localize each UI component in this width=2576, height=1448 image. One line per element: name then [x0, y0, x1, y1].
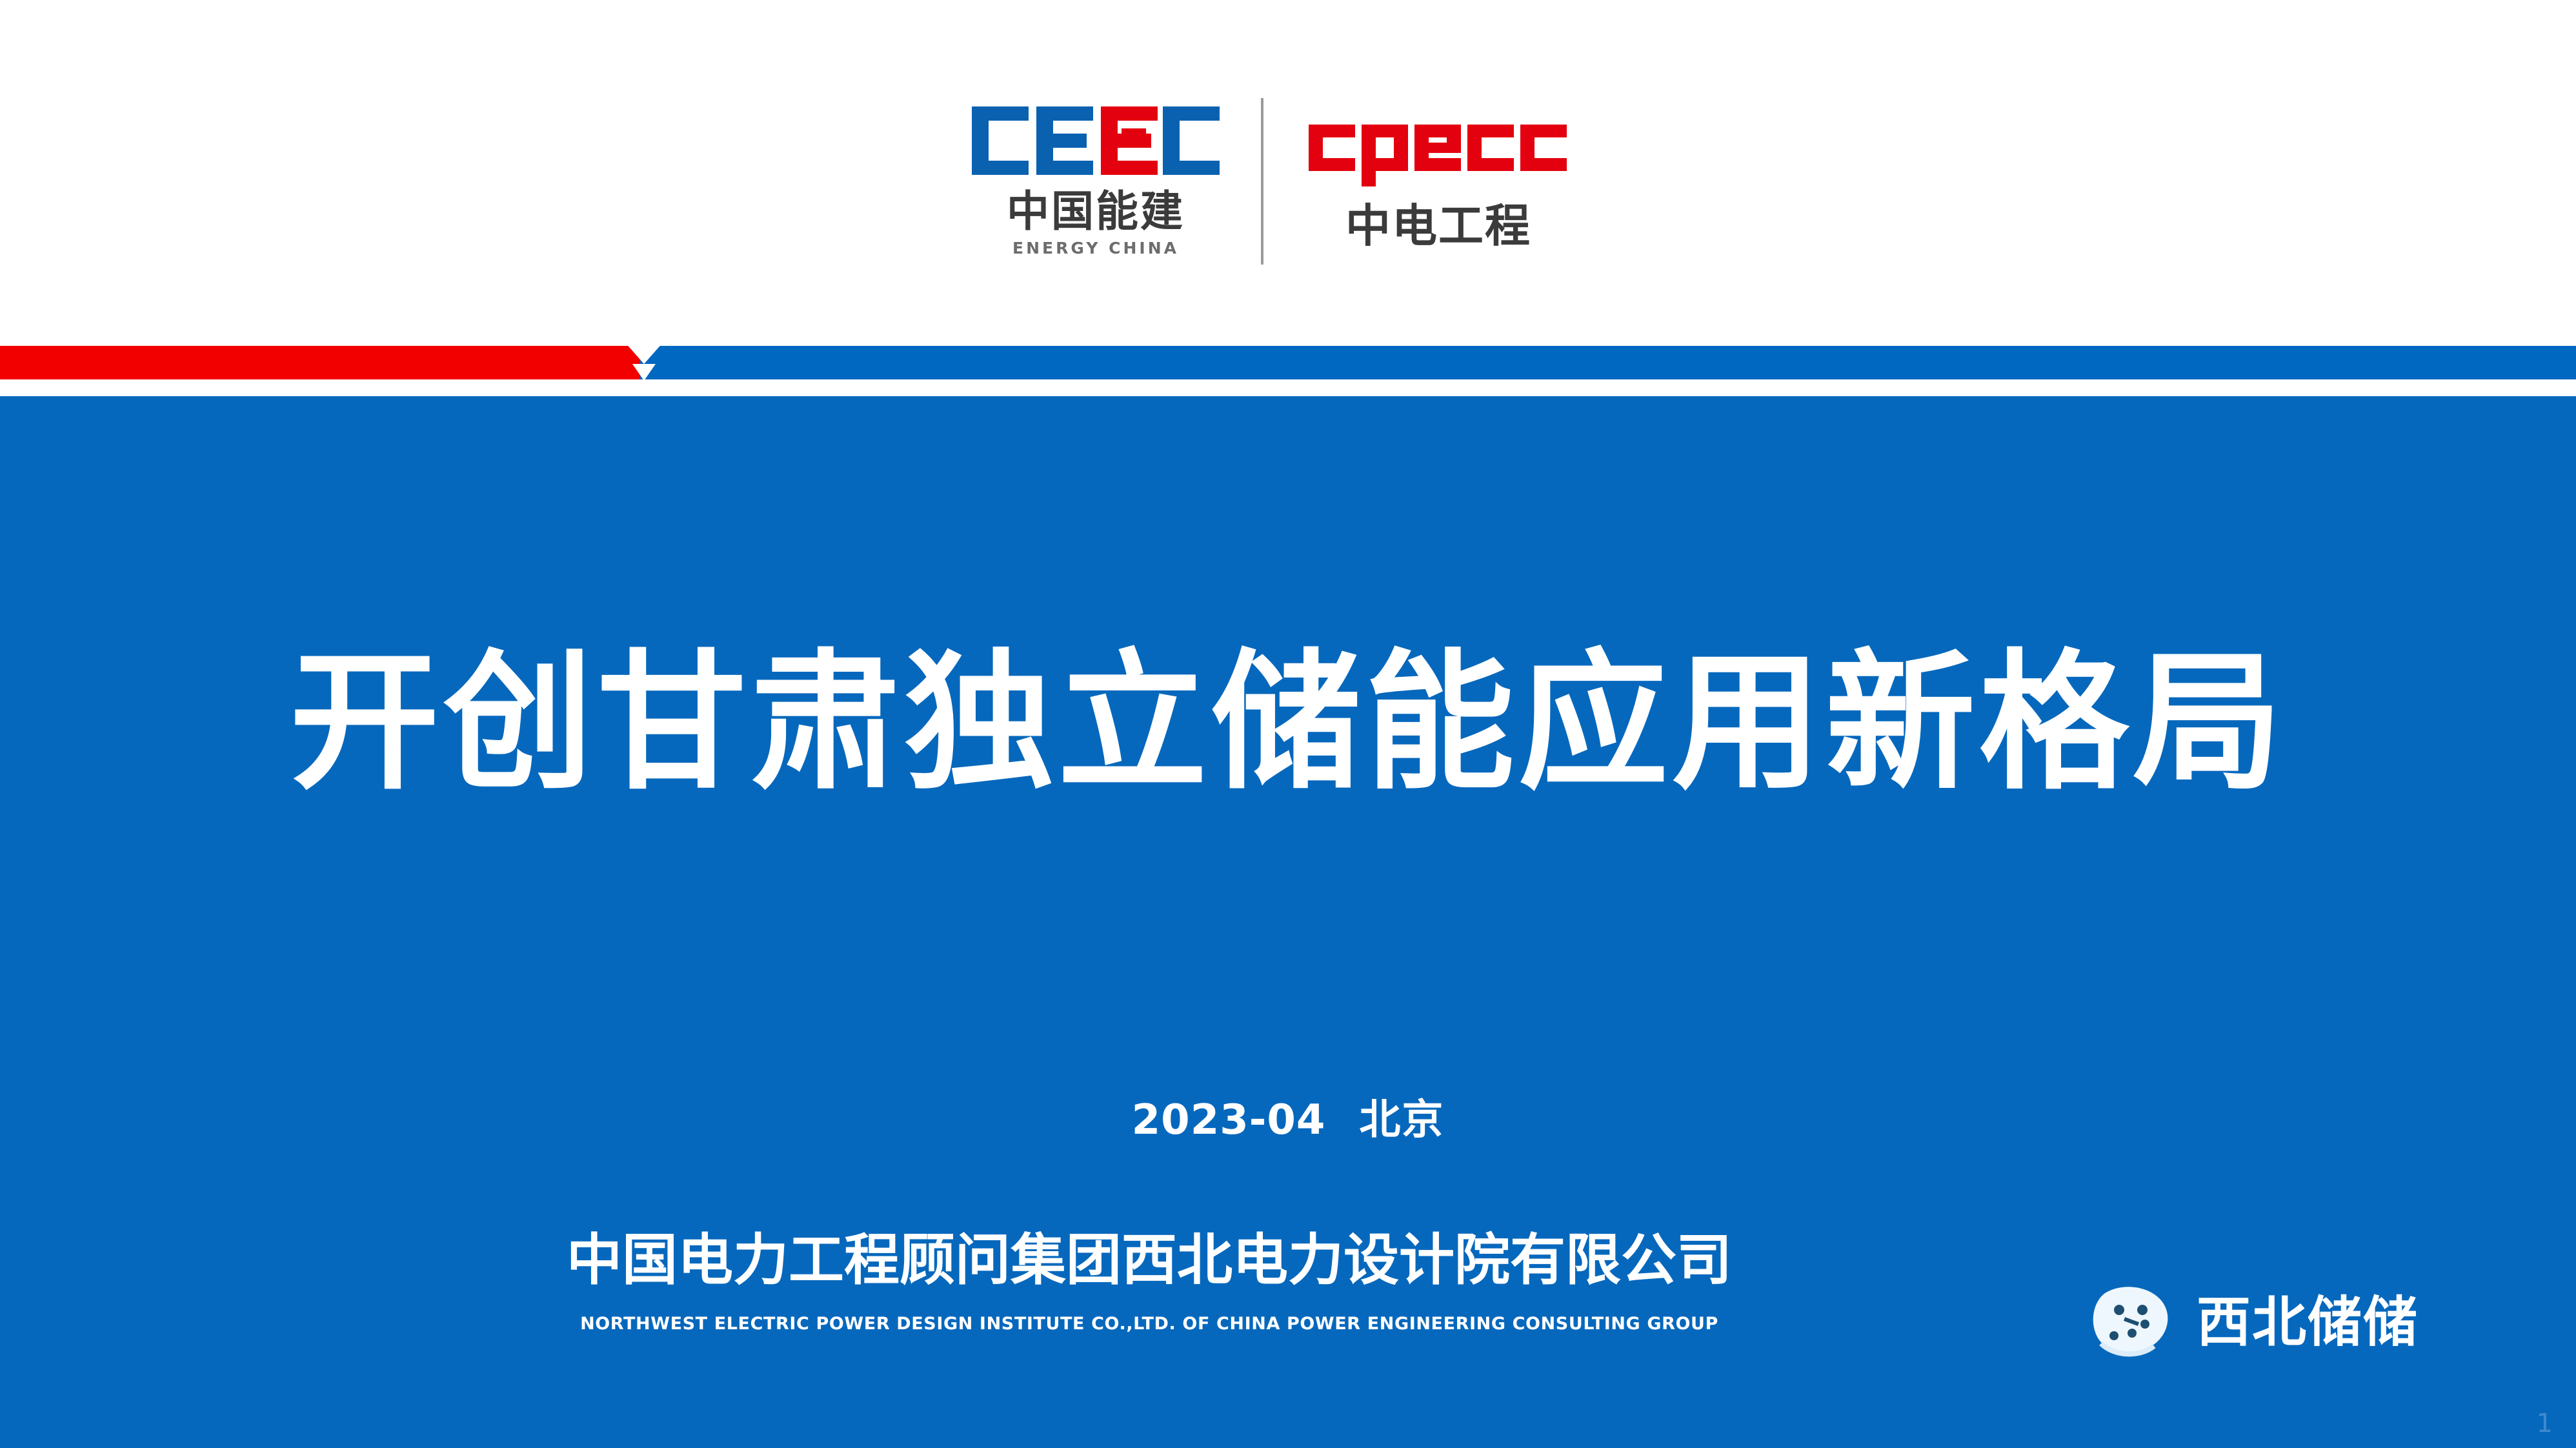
logo-row: 中国能建 ENERGY CHINA — [967, 83, 1577, 276]
cpecc-logo: 中电工程 — [1300, 110, 1577, 248]
ceec-logo: 中国能建 ENERGY CHINA — [967, 103, 1225, 256]
partner-emblem-icon — [2086, 1282, 2175, 1363]
divider-chevron-icon — [625, 342, 663, 364]
logo-separator — [1261, 98, 1263, 265]
page-title: 开创甘肃独立储能应用新格局 — [0, 648, 2576, 798]
presentation-city: 北京 — [1359, 1096, 1444, 1144]
ceec-en-name: ENERGY CHINA — [1012, 240, 1179, 256]
divider-red-bar — [0, 346, 645, 379]
divider-blue-bar — [640, 346, 2576, 379]
slide-header: 中国能建 ENERGY CHINA — [0, 0, 2576, 336]
slide-root: 中国能建 ENERGY CHINA — [0, 0, 2576, 1448]
divider-chevron-inner-icon — [632, 364, 656, 381]
partner-name: 西北储储 — [2197, 1295, 2419, 1349]
slide-body: 开创甘肃独立储能应用新格局 2023-04北京 中国电力工程顾问集团西北电力设计… — [0, 396, 2576, 1448]
page-number: 1 — [2537, 1411, 2553, 1436]
cpecc-wordmark-icon — [1306, 110, 1571, 186]
ceec-wordmark-icon — [969, 103, 1222, 179]
cpecc-cn-name: 中电工程 — [1345, 203, 1531, 248]
ceec-cn-name: 中国能建 — [1007, 190, 1185, 233]
presentation-date: 2023-04 — [1132, 1096, 1326, 1144]
divider-band — [0, 346, 2576, 379]
meta-row: 2023-04北京 — [0, 1100, 2576, 1141]
partner-logo: 西北储储 — [2086, 1274, 2419, 1371]
